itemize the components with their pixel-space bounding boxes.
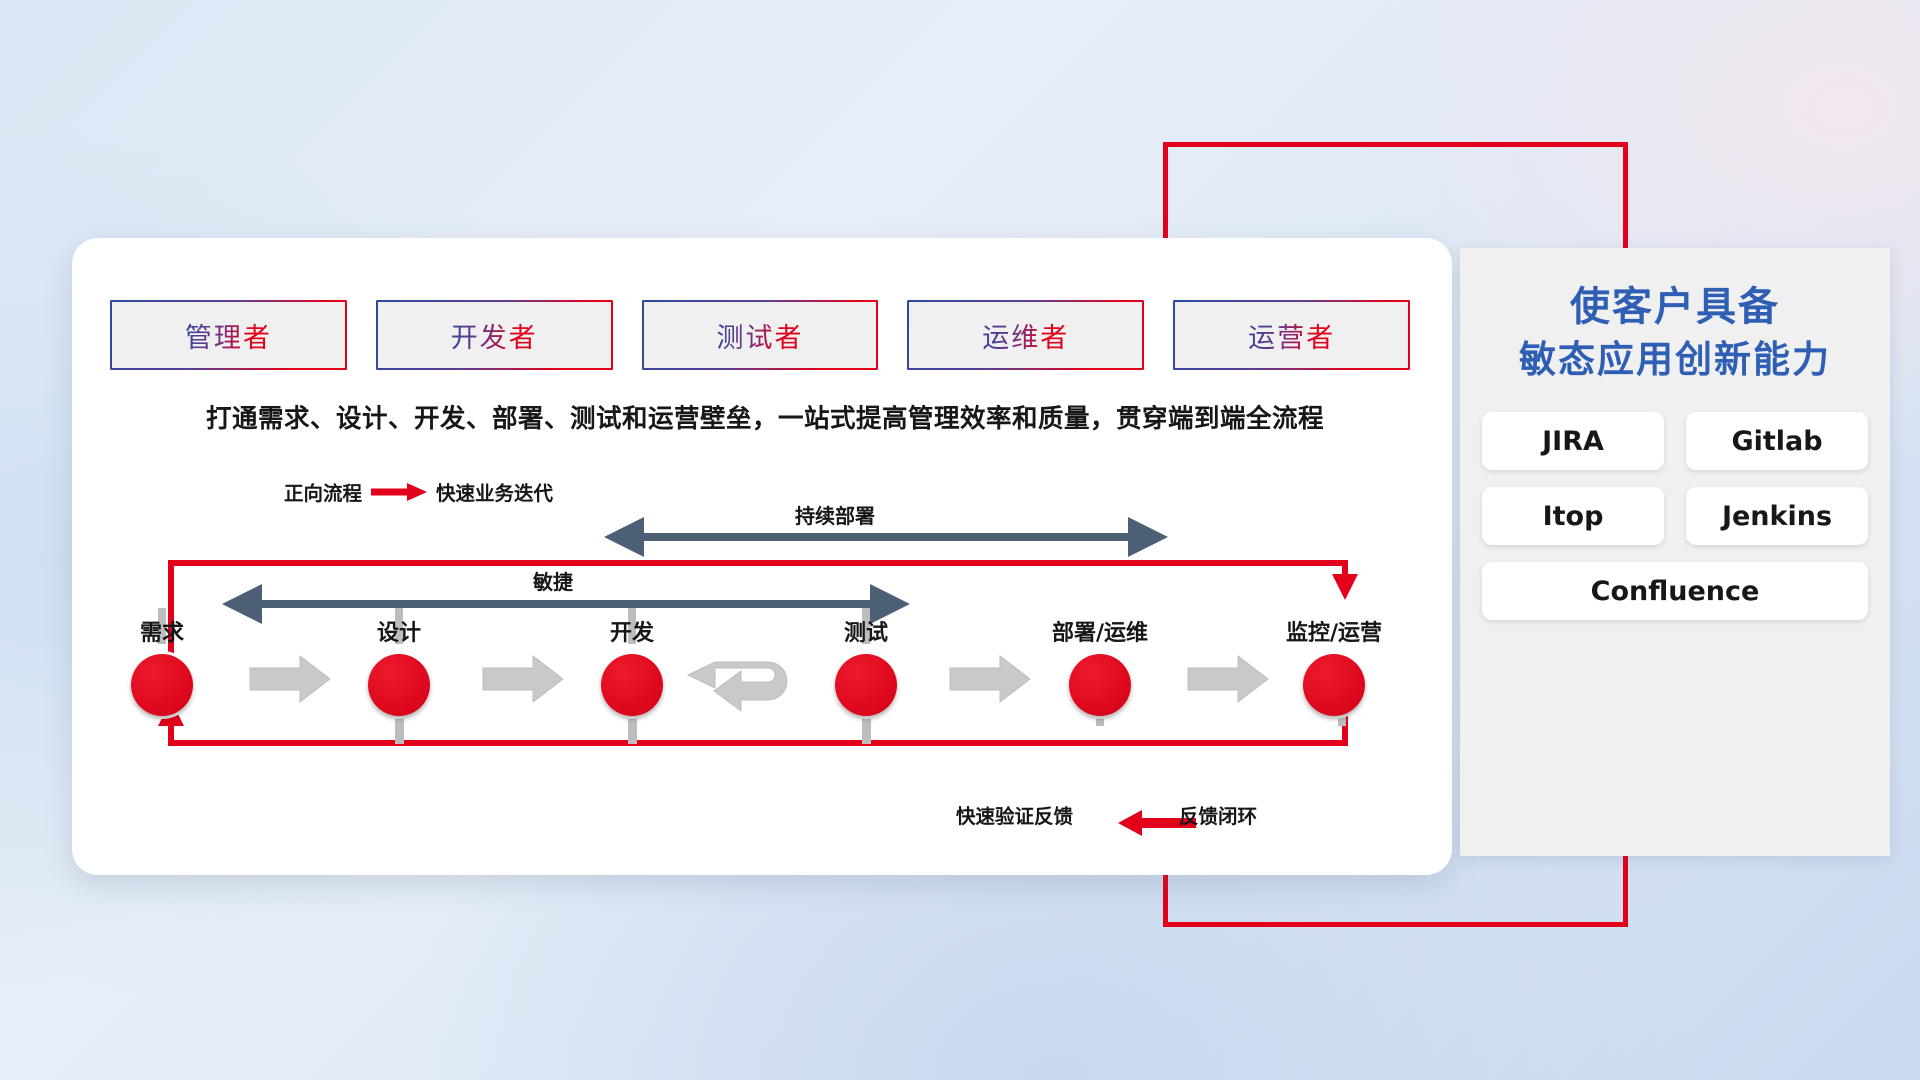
stage-label: 开发 [601, 623, 663, 645]
role-label: 运维者 [982, 316, 1069, 355]
tool-badge-confluence[interactable]: Confluence [1482, 562, 1868, 620]
forward-flow-result: 快速业务迭代 [436, 477, 553, 506]
tool-badge-gitlab[interactable]: Gitlab [1686, 412, 1868, 470]
stage-deploy-ops[interactable]: 部署/运维 [1052, 623, 1148, 716]
role-label: 管理者 [185, 316, 272, 355]
tool-badge-itop[interactable]: Itop [1482, 487, 1664, 545]
stage-node-circle[interactable] [835, 654, 897, 716]
role-label: 测试者 [716, 316, 803, 355]
tool-badge-jenkins[interactable]: Jenkins [1686, 487, 1868, 545]
slide-canvas: 管理者 开发者 测试者 运维者 运营者 打通需求、设计、开发、部署、测试和运营壁… [0, 0, 1920, 1080]
stage-development[interactable]: 开发 [601, 623, 663, 716]
stage-node-circle[interactable] [1069, 654, 1131, 716]
forward-flow-legend: 正向流程 快速业务迭代 [284, 477, 553, 506]
right-panel-title-line2: 敏态应用创新能力 [1460, 335, 1890, 385]
stage-label: 部署/运维 [1052, 623, 1148, 645]
right-panel-title: 使客户具备 敏态应用创新能力 [1460, 248, 1890, 384]
red-arrow-right-icon [371, 482, 427, 502]
stage-node-circle[interactable] [131, 654, 193, 716]
role-box-developer[interactable]: 开发者 [376, 300, 613, 370]
feedback-result-label: 快速验证反馈 [956, 800, 1073, 829]
role-box-ops[interactable]: 运维者 [907, 300, 1144, 370]
continuous-deploy-label: 持续部署 [795, 500, 875, 529]
tool-badge-jira[interactable]: JIRA [1482, 412, 1664, 470]
role-label: 开发者 [451, 316, 538, 355]
role-box-row: 管理者 开发者 测试者 运维者 运营者 [110, 300, 1410, 370]
stage-node-circle[interactable] [1303, 654, 1365, 716]
description-text: 打通需求、设计、开发、部署、测试和运营壁垒，一站式提高管理效率和质量，贯穿端到端… [110, 398, 1420, 435]
tool-badge-label: JIRA [1542, 426, 1604, 457]
stage-requirement[interactable]: 需求 [131, 623, 193, 716]
role-box-manager[interactable]: 管理者 [110, 300, 347, 370]
feedback-loop-legend: 快速验证反馈 反馈闭环 [956, 800, 1257, 829]
tool-badge-label: Jenkins [1722, 501, 1832, 532]
stage-label: 需求 [131, 623, 193, 645]
right-panel-title-line1: 使客户具备 [1460, 281, 1890, 335]
feedback-loop-label: 反馈闭环 [1179, 800, 1257, 829]
tool-badge-label: Itop [1543, 501, 1604, 532]
stage-label: 测试 [835, 623, 897, 645]
tool-badge-label: Confluence [1591, 576, 1760, 607]
tool-badge-label: Gitlab [1731, 426, 1822, 457]
agile-label: 敏捷 [533, 566, 573, 595]
stage-label: 监控/运营 [1286, 623, 1382, 645]
stage-node-circle[interactable] [601, 654, 663, 716]
tool-badge-list: JIRA Gitlab Itop Jenkins Confluence [1482, 412, 1868, 620]
forward-flow-label: 正向流程 [284, 477, 362, 506]
right-panel: 使客户具备 敏态应用创新能力 JIRA Gitlab Itop Jenkins … [1460, 248, 1890, 856]
stage-design[interactable]: 设计 [368, 623, 430, 716]
role-label: 运营者 [1248, 316, 1335, 355]
stage-monitor-operation[interactable]: 监控/运营 [1286, 623, 1382, 716]
stage-testing[interactable]: 测试 [835, 623, 897, 716]
stage-node-circle[interactable] [368, 654, 430, 716]
role-box-operator[interactable]: 运营者 [1173, 300, 1410, 370]
stage-label: 设计 [368, 623, 430, 645]
role-box-tester[interactable]: 测试者 [642, 300, 879, 370]
